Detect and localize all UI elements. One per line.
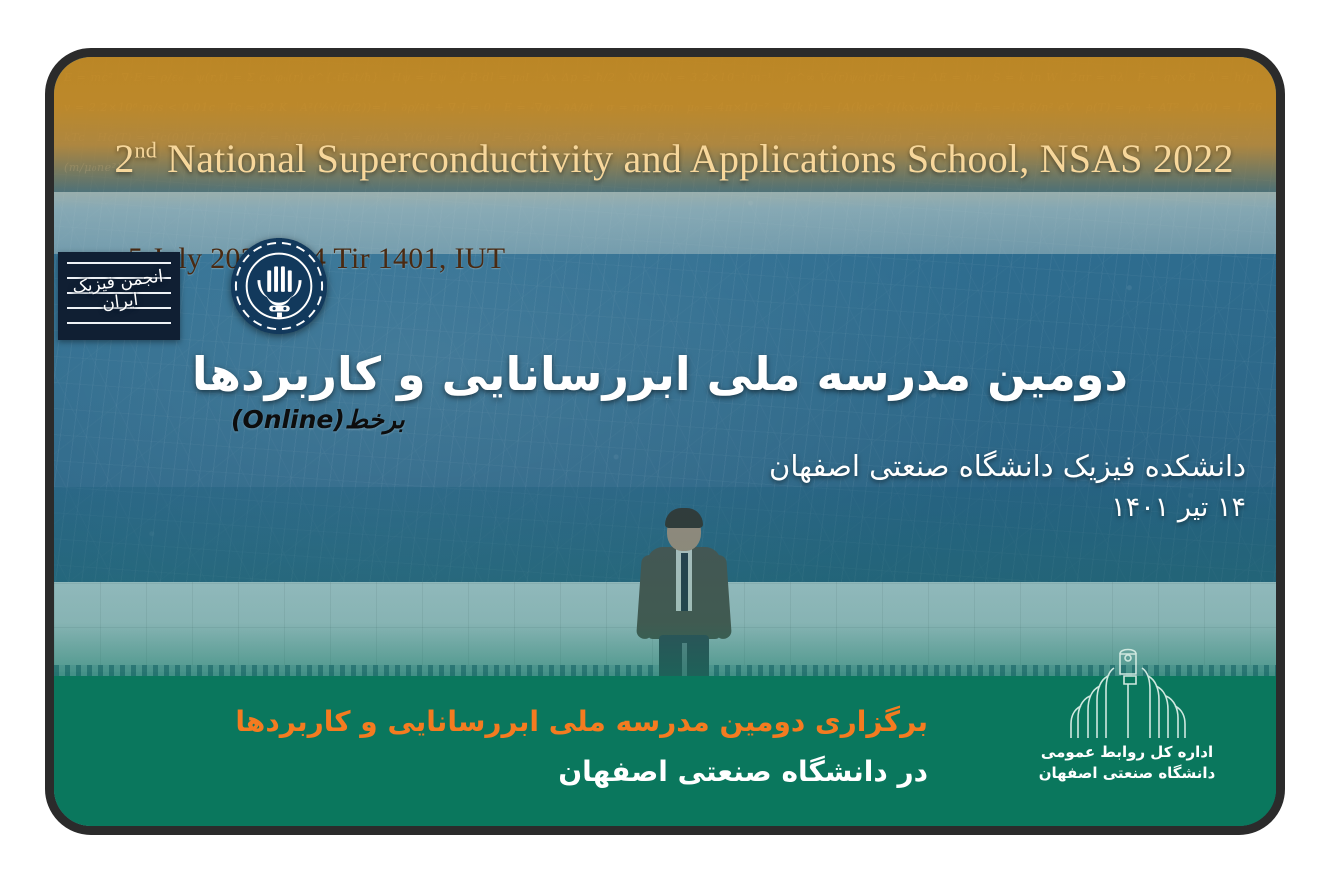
pr-architecture-icon bbox=[1024, 644, 1230, 742]
pr-logo-line1: اداره کل روابط عمومی bbox=[1024, 742, 1230, 763]
title-text-en: National Superconductivity and Applicati… bbox=[167, 136, 1234, 181]
event-date-fa: ۱۴ تیر ۱۴۰۱ bbox=[1111, 492, 1246, 523]
iranian-physics-society-logo: انجمن فیزیک ایران bbox=[58, 252, 180, 340]
title-ordinal-number: 2 bbox=[114, 136, 134, 181]
department-name-fa: دانشکده فیزیک دانشگاه صنعتی اصفهان bbox=[769, 449, 1246, 483]
poster-title-fa: دومین مدرسه ملی ابررسانایی و کاربردها bbox=[192, 347, 1128, 401]
event-poster: E = mc² ∇·E = ρ/ε₀ ψ(r,t) = Σ cₙ φₙ(r) e… bbox=[45, 48, 1285, 835]
pr-logo-line2: دانشگاه صنعتی اصفهان bbox=[1024, 763, 1230, 784]
poster-title-en: 2nd National Superconductivity and Appli… bbox=[74, 135, 1274, 182]
title-ordinal-suffix: nd bbox=[135, 138, 157, 163]
gold-header-gradient bbox=[54, 57, 1276, 209]
public-relations-logo: اداره کل روابط عمومی دانشگاه صنعتی اصفها… bbox=[1024, 644, 1230, 804]
isfahan-university-of-technology-logo bbox=[230, 237, 328, 335]
poster-canvas: E = mc² ∇·E = ρ/ε₀ ψ(r,t) = Σ cₙ φₙ(r) e… bbox=[0, 0, 1336, 891]
footer-announcement-line1: برگزاری دومین مدرسه ملی ابررسانایی و کار… bbox=[235, 705, 928, 738]
online-label: برخط(Online) bbox=[231, 405, 405, 434]
footer-announcement-line2: در دانشگاه صنعتی اصفهان bbox=[558, 755, 928, 788]
